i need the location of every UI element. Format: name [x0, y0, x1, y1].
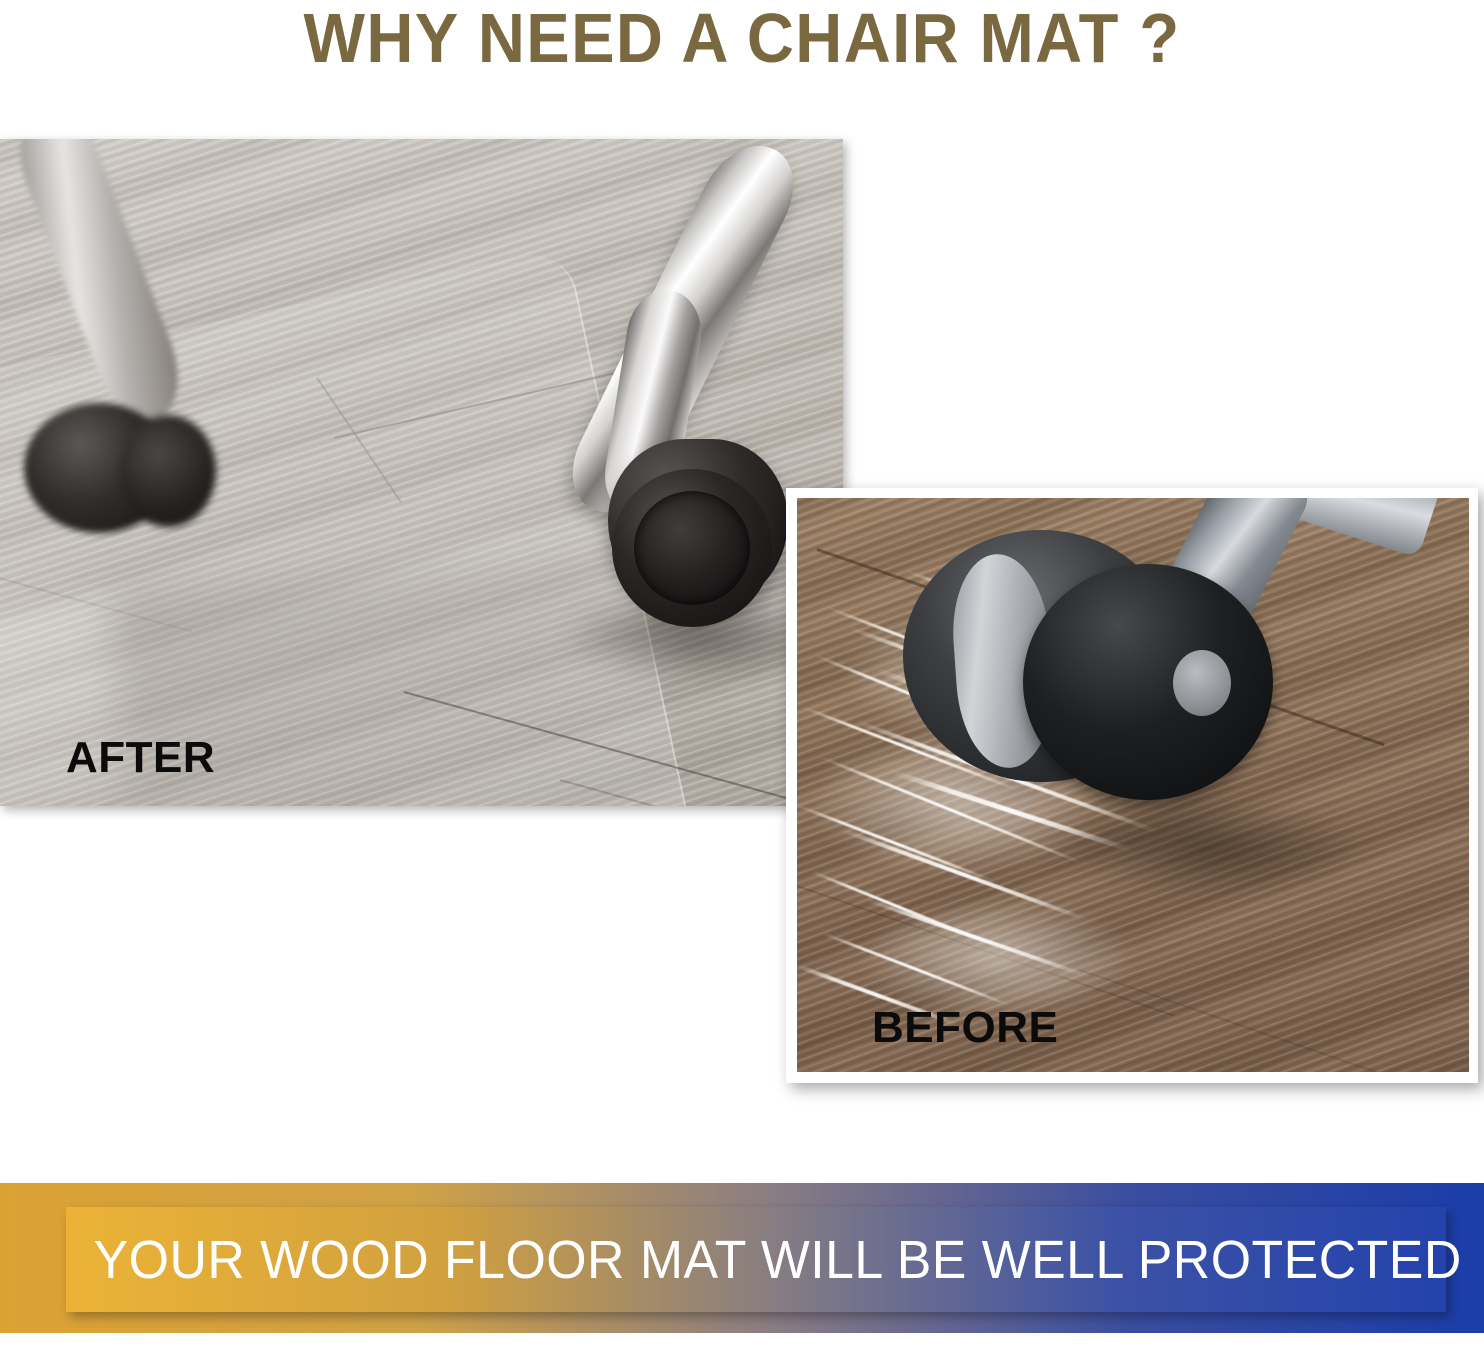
bottom-banner-panel: YOUR WOOD FLOOR MAT WILL BE WELL PROTECT…	[66, 1207, 1446, 1312]
caster-front-wheel	[1023, 564, 1273, 800]
background-caster-wheel	[120, 415, 216, 527]
before-photo-inner	[797, 498, 1469, 1072]
caster-hub	[1173, 650, 1231, 716]
caster-wheel-hub	[634, 491, 750, 605]
caster-shadow	[1041, 796, 1371, 896]
before-label: BEFORE	[872, 1005, 1058, 1051]
after-label: AFTER	[66, 735, 215, 781]
bottom-banner-text: YOUR WOOD FLOOR MAT WILL BE WELL PROTECT…	[94, 1231, 1419, 1289]
after-photo	[0, 139, 843, 806]
bottom-banner: YOUR WOOD FLOOR MAT WILL BE WELL PROTECT…	[0, 1183, 1484, 1333]
page-title: WHY NEED A CHAIR MAT ?	[52, 2, 1432, 74]
before-photo	[786, 488, 1478, 1083]
